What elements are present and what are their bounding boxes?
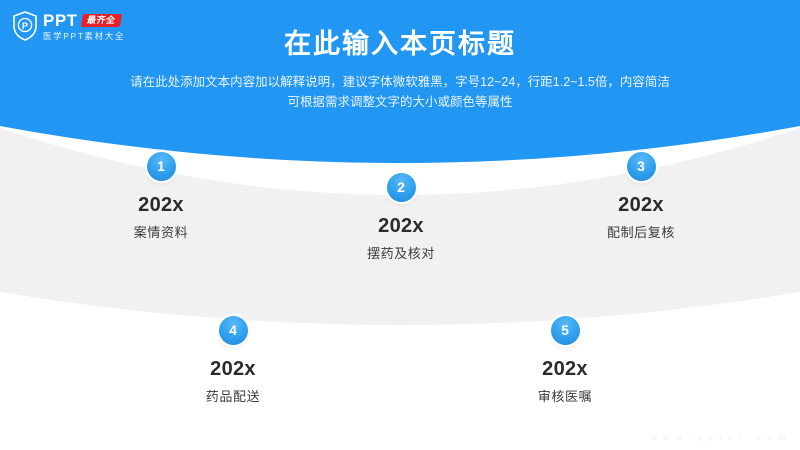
step-label-5: 审核医嘱 [475, 386, 655, 405]
step-year-1: 202x [71, 194, 251, 217]
brand-title-row: PPT 最齐全 [43, 12, 125, 29]
step-item-3[interactable]: 3 202x 配制后复核 [551, 152, 731, 241]
page-subtitle-line-1: 请在此处添加文本内容加以解释说明，建议字体微软雅黑，字号12~24，行距1.2~… [0, 72, 800, 92]
brand-text: PPT 最齐全 医学PPT素材大全 [43, 12, 125, 41]
step-number-badge-3: 3 [627, 152, 656, 181]
brand-name: PPT [43, 12, 78, 29]
page-subtitle-line-2: 可根据需求调整文字的大小或颜色等属性 [0, 92, 800, 112]
step-item-4[interactable]: 4 202x 药品配送 [143, 316, 323, 405]
step-year-2: 202x [311, 215, 491, 238]
brand-subtitle: 医学PPT素材大全 [43, 32, 125, 41]
step-label-1: 案情资料 [71, 222, 251, 241]
step-year-3: 202x [551, 194, 731, 217]
step-label-4: 药品配送 [143, 386, 323, 405]
step-item-5[interactable]: 5 202x 审核医嘱 [475, 316, 655, 405]
svg-text:P: P [22, 21, 28, 31]
brand-logo[interactable]: P PPT 最齐全 医学PPT素材大全 [12, 8, 152, 44]
step-number-badge-2: 2 [387, 173, 416, 202]
step-label-2: 摆药及核对 [311, 243, 491, 262]
step-number-badge-4: 4 [219, 316, 248, 345]
step-year-5: 202x [475, 358, 655, 381]
step-number-badge-5: 5 [551, 316, 580, 345]
step-item-2[interactable]: 2 202x 摆药及核对 [311, 173, 491, 262]
step-year-4: 202x [143, 358, 323, 381]
slide-canvas: P PPT 最齐全 医学PPT素材大全 在此输入本页标题 请在此处添加文本内容加… [0, 0, 800, 450]
page-subtitle: 请在此处添加文本内容加以解释说明，建议字体微软雅黑，字号12~24，行距1.2~… [0, 72, 800, 112]
step-number-badge-1: 1 [147, 152, 176, 181]
shield-icon: P [12, 11, 38, 41]
step-label-3: 配制后复核 [551, 222, 731, 241]
step-item-1[interactable]: 1 202x 案情资料 [71, 152, 251, 241]
footer-watermark: w w w . p p t e r . c o m [651, 433, 788, 442]
brand-badge: 最齐全 [80, 14, 121, 27]
